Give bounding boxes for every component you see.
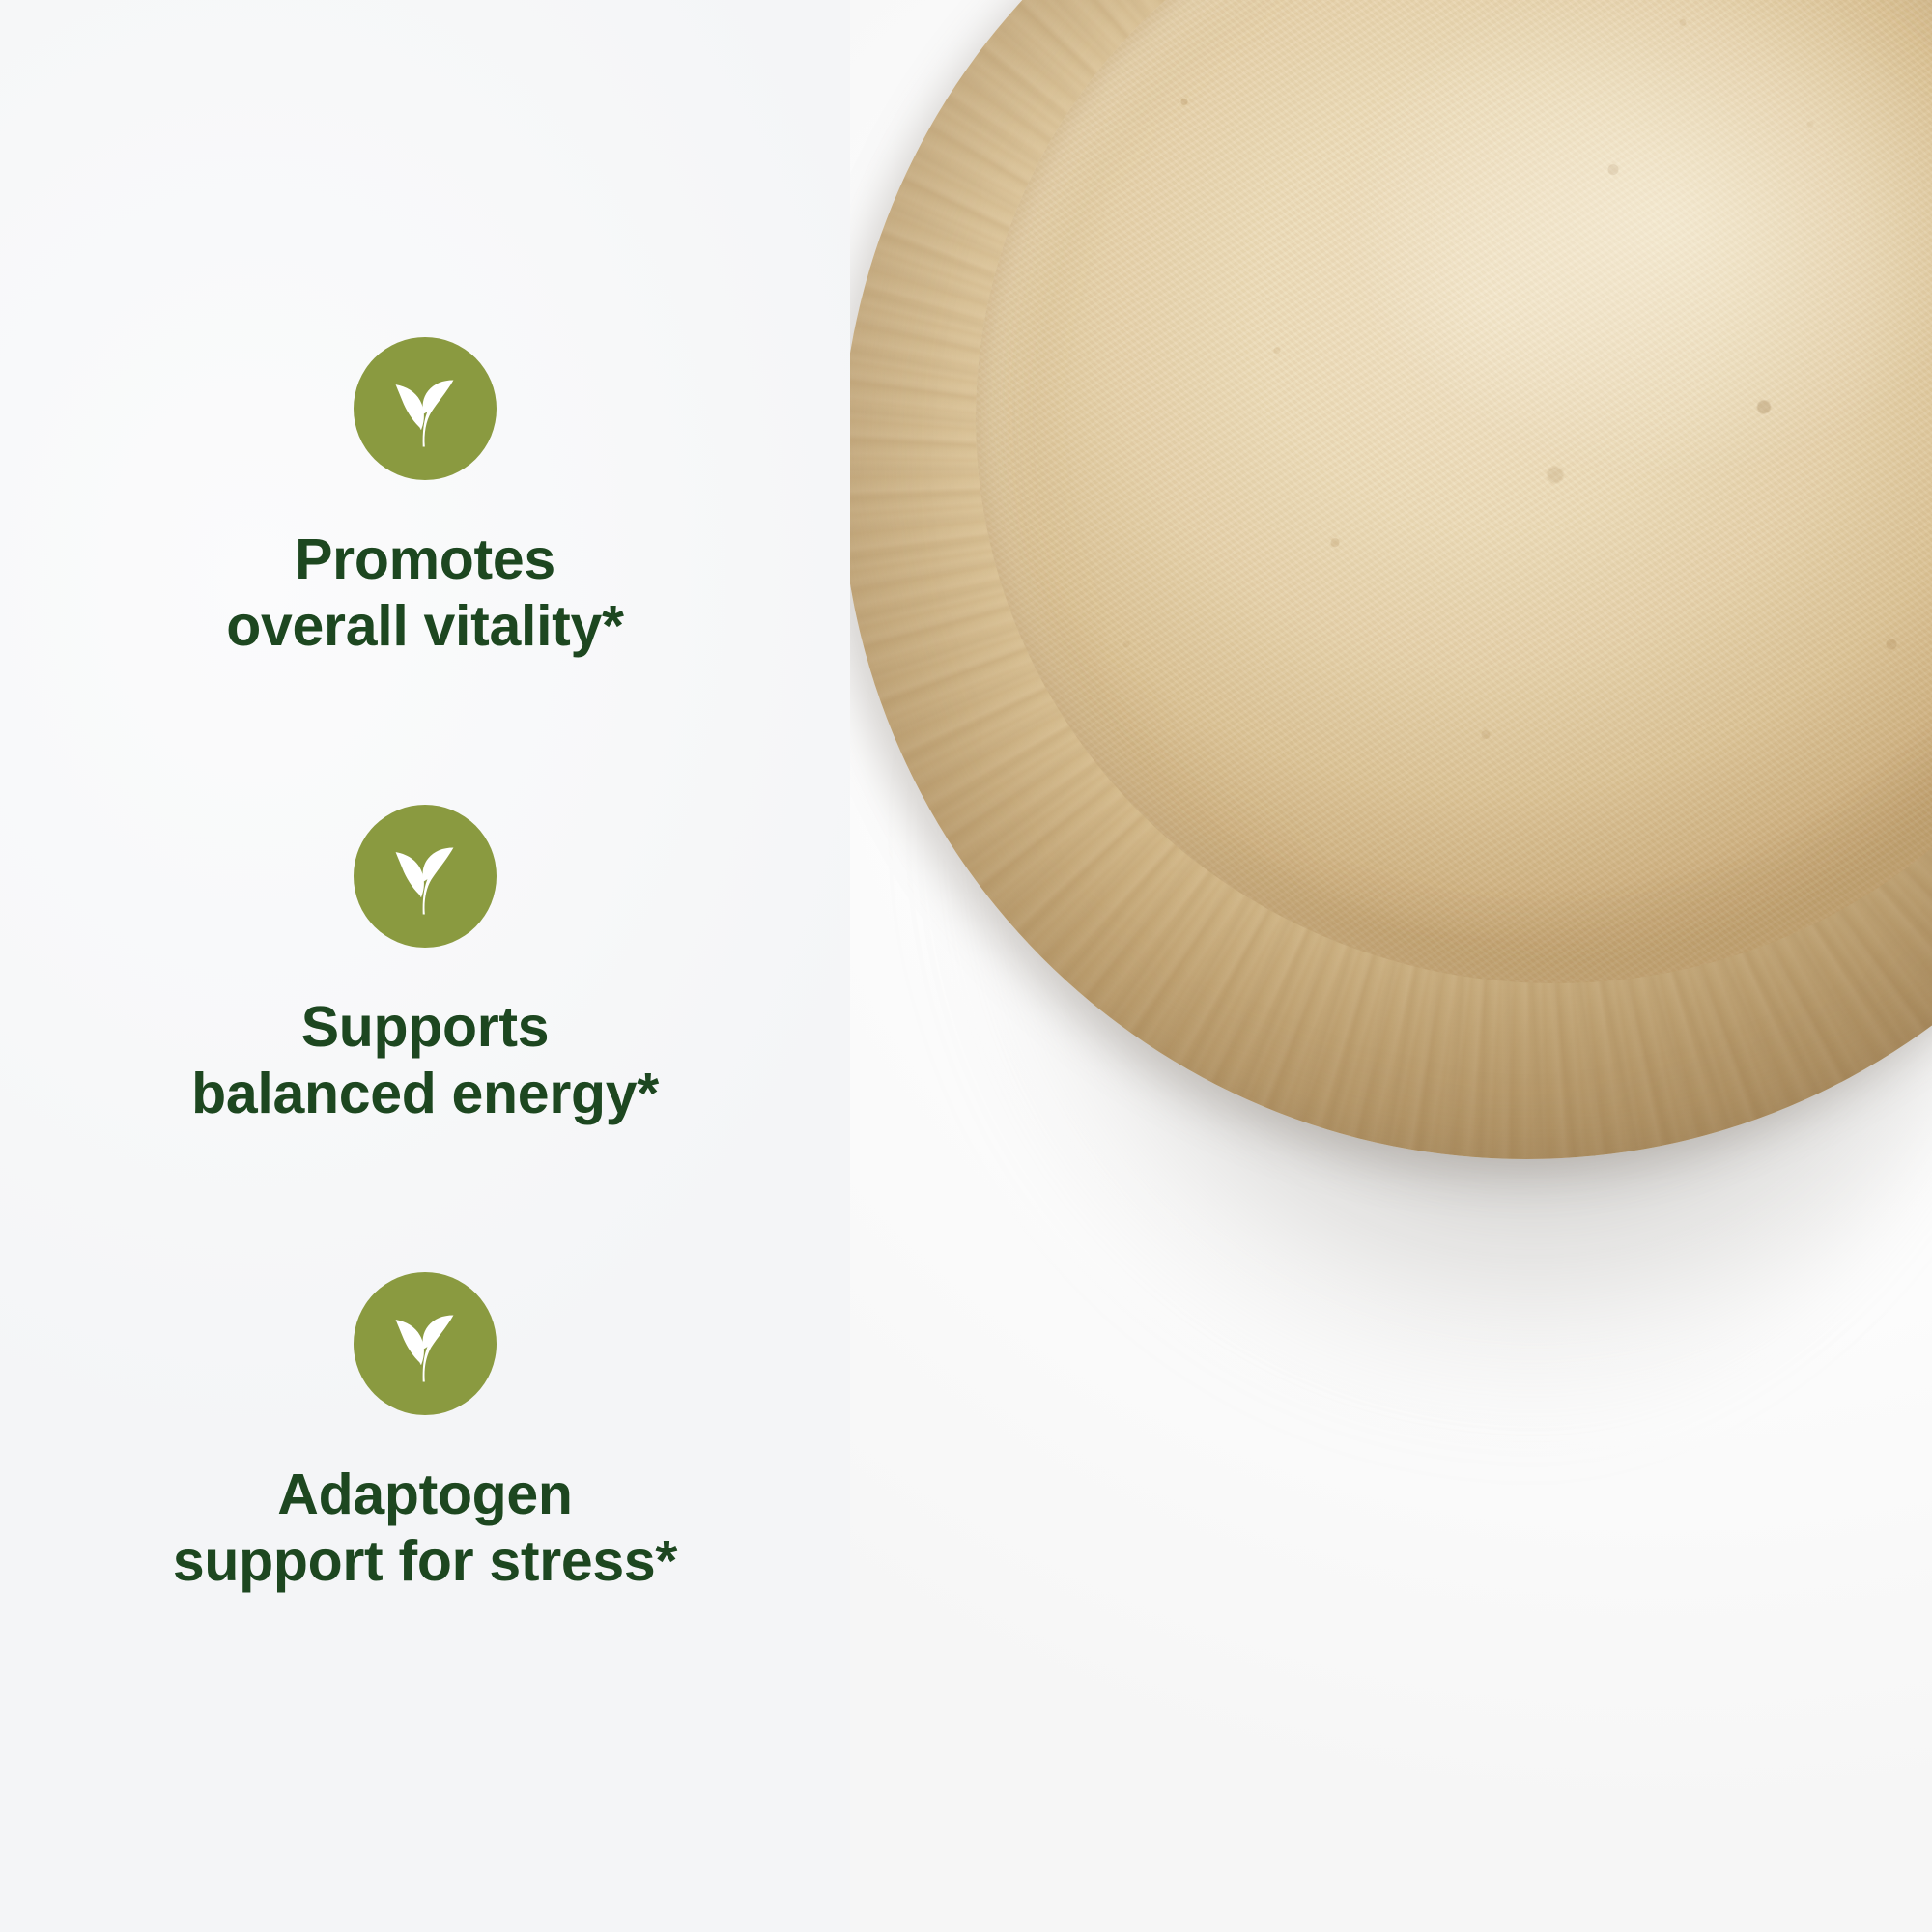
leaf-sprout-icon [354, 805, 497, 948]
benefit-line-1: Promotes [226, 526, 623, 593]
product-benefits-graphic: Promotes overall vitality* Supports bala… [0, 0, 1932, 1932]
benefit-text: Supports balanced energy* [191, 994, 659, 1127]
benefit-line-2: support for stress* [173, 1528, 677, 1595]
leaf-sprout-icon [354, 337, 497, 480]
benefit-line-2: overall vitality* [226, 593, 623, 660]
benefit-item: Supports balanced energy* [48, 805, 802, 1127]
leaf-sprout-icon [354, 1272, 497, 1415]
benefit-line-1: Supports [191, 994, 659, 1061]
benefits-panel: Promotes overall vitality* Supports bala… [0, 0, 850, 1932]
benefit-line-2: balanced energy* [191, 1061, 659, 1127]
benefit-text: Adaptogen support for stress* [173, 1462, 677, 1595]
product-photo [831, 0, 1932, 1932]
benefit-line-1: Adaptogen [173, 1462, 677, 1528]
benefit-text: Promotes overall vitality* [226, 526, 623, 660]
benefit-item: Promotes overall vitality* [48, 337, 802, 660]
benefit-item: Adaptogen support for stress* [48, 1272, 802, 1595]
